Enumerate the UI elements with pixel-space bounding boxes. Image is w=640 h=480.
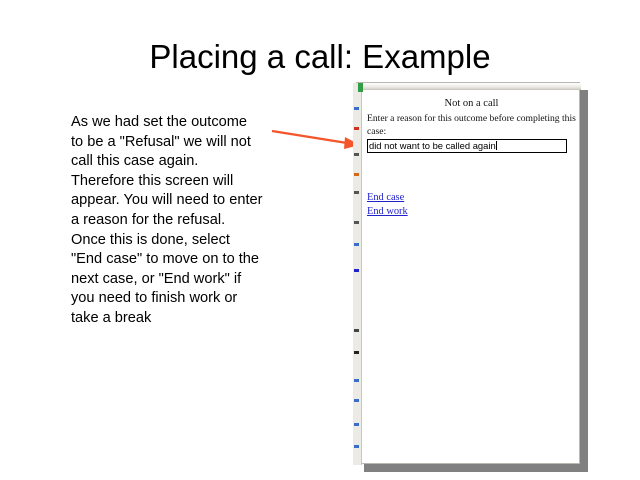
app-page-content: Not on a call Enter a reason for this ou…: [363, 91, 580, 464]
end-case-link[interactable]: End case: [367, 192, 404, 203]
background-window-sliver: [353, 83, 362, 465]
reason-input[interactable]: did not want to be called again: [367, 139, 567, 153]
page-title: Placing a call: Example: [0, 38, 640, 76]
text-caret: [496, 141, 497, 150]
app-heading: Not on a call: [363, 98, 580, 109]
app-screenshot: Not on a call Enter a reason for this ou…: [356, 82, 580, 464]
reason-input-value: did not want to be called again: [369, 140, 496, 151]
app-window: Not on a call Enter a reason for this ou…: [356, 82, 580, 464]
red-arrow-icon: [265, 120, 365, 156]
app-instruction-text: Enter a reason for this outcome before c…: [367, 113, 579, 138]
end-work-link[interactable]: End work: [367, 206, 408, 217]
app-title-bar: [362, 83, 581, 90]
slide-body-text: As we had set the outcome to be a "Refus…: [71, 113, 263, 329]
